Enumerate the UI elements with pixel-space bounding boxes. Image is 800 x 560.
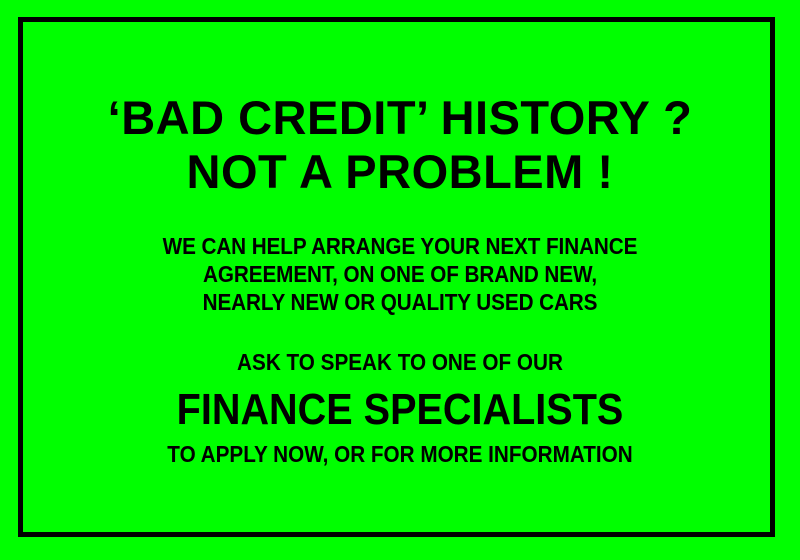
- ask-to-speak-line: ASK TO SPEAK TO ONE OF OUR: [40, 347, 760, 377]
- call-to-action-block: ASK TO SPEAK TO ONE OF OUR FINANCE SPECI…: [0, 347, 800, 469]
- body-line-2: AGREEMENT, ON ONE OF BRAND NEW,: [40, 260, 760, 288]
- body-line-3: NEARLY NEW OR QUALITY USED CARS: [40, 288, 760, 316]
- headline-line-2: NOT A PROBLEM !: [0, 145, 800, 199]
- apply-now-line: TO APPLY NOW, OR FOR MORE INFORMATION: [40, 439, 760, 469]
- advertisement-poster: ‘BAD CREDIT’ HISTORY ? NOT A PROBLEM ! W…: [0, 0, 800, 560]
- headline-block: ‘BAD CREDIT’ HISTORY ? NOT A PROBLEM !: [0, 91, 800, 199]
- headline-line-1: ‘BAD CREDIT’ HISTORY ?: [0, 91, 800, 145]
- finance-specialists-heading: FINANCE SPECIALISTS: [40, 383, 760, 437]
- body-text-block: WE CAN HELP ARRANGE YOUR NEXT FINANCE AG…: [0, 232, 800, 316]
- poster-content: ‘BAD CREDIT’ HISTORY ? NOT A PROBLEM ! W…: [0, 0, 800, 560]
- body-line-1: WE CAN HELP ARRANGE YOUR NEXT FINANCE: [40, 232, 760, 260]
